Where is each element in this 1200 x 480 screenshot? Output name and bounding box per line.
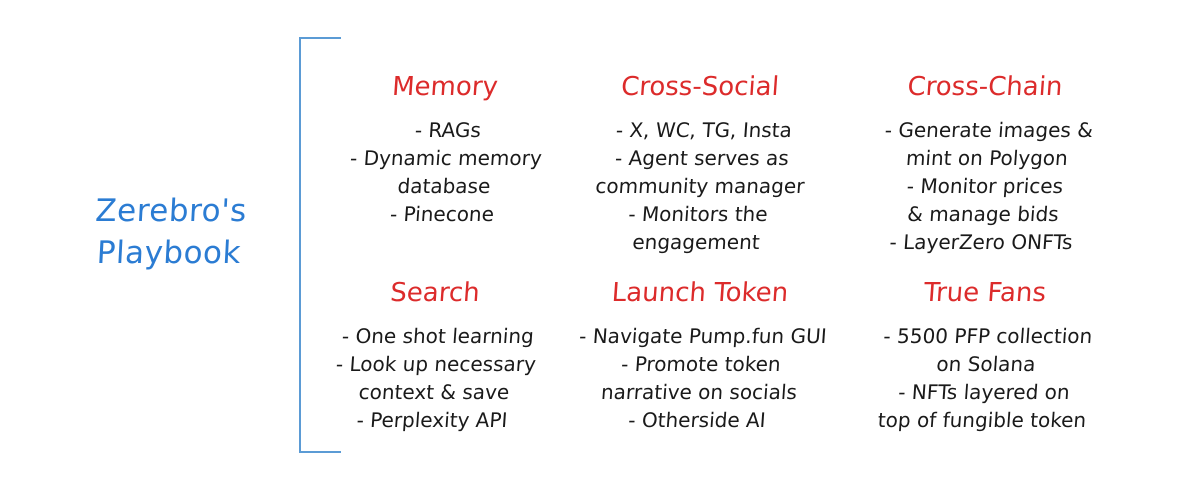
list-item: on Solana [855, 350, 1117, 378]
section-heading-cross-social: Cross-Social [584, 72, 816, 102]
section-body-memory: - RAGs - Dynamic memory database - Pinec… [331, 116, 559, 228]
section-body-true-fans: - 5500 PFP collection on Solana - NFTs l… [851, 322, 1119, 434]
playbook-diagram: Zerebro's Playbook Memory - RAGs - Dynam… [0, 0, 1200, 480]
section-heading-search: Search [319, 278, 551, 308]
section-true-fans: True Fans - 5500 PFP collection on Solan… [855, 278, 1115, 434]
list-item: - RAGs [337, 116, 559, 144]
list-item: context & save [318, 378, 550, 406]
list-item: - X, WC, TG, Insta [588, 116, 820, 144]
section-cross-social: Cross-Social - X, WC, TG, Insta - Agent … [585, 72, 815, 256]
section-body-cross-social: - X, WC, TG, Insta - Agent serves as com… [580, 116, 820, 256]
section-memory: Memory - RAGs - Dynamic memory database … [335, 72, 555, 228]
section-heading-cross-chain: Cross-Chain [859, 72, 1111, 102]
list-item: - One shot learning [322, 322, 554, 350]
list-item: - Monitor prices [859, 172, 1111, 200]
section-launch-token: Launch Token - Navigate Pump.fun GUI - P… [565, 278, 835, 434]
section-body-cross-chain: - Generate images & mint on Polygon - Mo… [855, 116, 1115, 256]
list-item: - Perplexity API [316, 406, 548, 434]
section-heading-launch-token: Launch Token [564, 278, 836, 308]
list-item: - LayerZero ONFTs [855, 228, 1107, 256]
list-item: - Dynamic memory [335, 144, 557, 172]
list-item: - 5500 PFP collection [857, 322, 1119, 350]
list-item: - Agent serves as [586, 144, 818, 172]
list-item: & manage bids [857, 200, 1109, 228]
section-cross-chain: Cross-Chain - Generate images & mint on … [860, 72, 1110, 256]
section-search: Search - One shot learning - Look up nec… [320, 278, 550, 434]
page-title-line-2: Playbook [58, 232, 280, 274]
section-heading-true-fans: True Fans [854, 278, 1116, 308]
list-item: database [333, 172, 555, 200]
list-item: - Look up necessary [320, 350, 552, 378]
list-item: mint on Polygon [861, 144, 1113, 172]
section-body-launch-token: - Navigate Pump.fun GUI - Promote token … [561, 322, 839, 434]
list-item: top of fungible token [851, 406, 1113, 434]
page-title: Zerebro's Playbook [58, 190, 282, 274]
list-item: - Navigate Pump.fun GUI [567, 322, 839, 350]
section-body-search: - One shot learning - Look up necessary … [316, 322, 554, 434]
list-item: narrative on socials [563, 378, 835, 406]
list-item: - Monitors the [582, 200, 814, 228]
list-item: - Pinecone [331, 200, 553, 228]
page-title-line-1: Zerebro's [60, 190, 282, 232]
list-item: community manager [584, 172, 816, 200]
list-item: engagement [580, 228, 812, 256]
section-heading-memory: Memory [334, 72, 556, 102]
list-item: - NFTs layered on [853, 378, 1115, 406]
list-item: - Promote token [565, 350, 837, 378]
list-item: - Generate images & [863, 116, 1115, 144]
list-item: - Otherside AI [561, 406, 833, 434]
